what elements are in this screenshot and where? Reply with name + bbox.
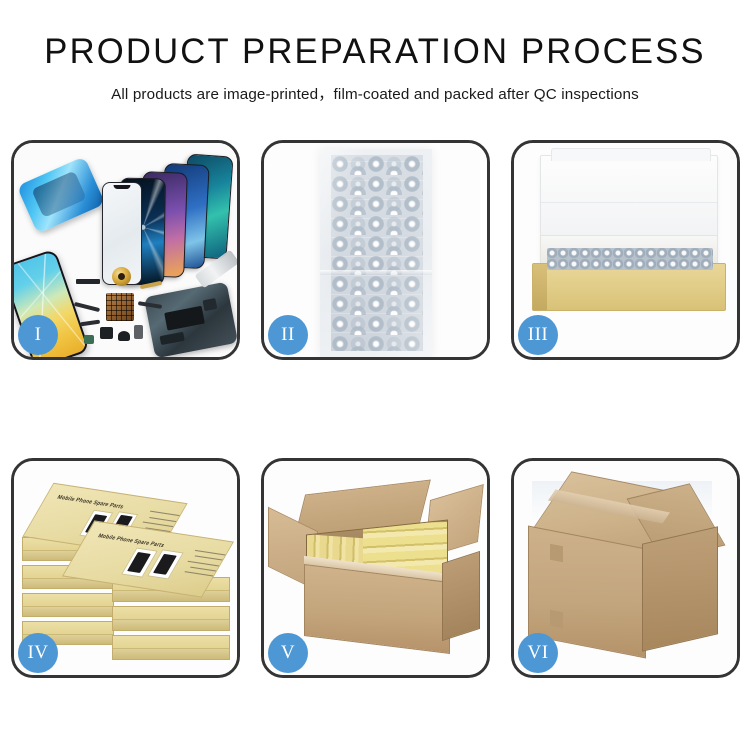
screw-grid-icon: [106, 293, 134, 321]
step-badge-1: I: [18, 315, 58, 355]
sealed-carton-side: [642, 526, 718, 652]
process-step-6: VI: [511, 458, 740, 678]
page-subtitle: All products are image-printed，film-coat…: [0, 82, 750, 104]
spare-parts-cluster: [70, 265, 186, 357]
earpiece-strip-icon: [76, 279, 100, 284]
flex-cable-3: [138, 301, 162, 309]
flex-cable-4: [80, 320, 100, 327]
process-step-5: V: [261, 458, 490, 678]
tape-tab-upper: [550, 544, 563, 563]
step-badge-3: III: [518, 315, 558, 355]
header: PRODUCT PREPARATION PROCESS All products…: [0, 0, 750, 104]
product-preparation-infographic: PRODUCT PREPARATION PROCESS All products…: [0, 0, 750, 750]
small-part-4: [84, 335, 94, 344]
flex-cable-2: [140, 281, 162, 289]
kraft-box-edge-6: [112, 606, 230, 631]
process-step-2: II: [261, 140, 490, 360]
box-label-text-2: Mobile Phone Spare Parts: [97, 533, 166, 549]
mailer-base: [532, 263, 726, 311]
kraft-box-edge-3: [22, 593, 114, 617]
step-badge-2: II: [268, 315, 308, 355]
flex-cable-1: [74, 302, 100, 312]
box-label-text: Mobile Phone Spare Parts: [56, 495, 125, 511]
carton-side-face: [442, 551, 480, 641]
small-part-3: [134, 325, 143, 339]
process-step-grid: I II III: [11, 140, 739, 678]
step-badge-6: VI: [518, 633, 558, 673]
page-title: PRODUCT PREPARATION PROCESS: [4, 34, 747, 71]
process-step-1: I: [11, 140, 240, 360]
step-badge-5: V: [268, 633, 308, 673]
small-part-1: [100, 327, 113, 339]
plastic-gloss: [320, 149, 432, 357]
tape-tab-lower: [550, 610, 563, 629]
process-step-4: Mobile Phone Spare Parts Mobile Phone Sp…: [11, 458, 240, 678]
process-step-3: III: [511, 140, 740, 360]
step-badge-4: IV: [18, 633, 58, 673]
speaker-coil-icon: [112, 267, 131, 286]
small-part-2: [118, 331, 130, 341]
kraft-box-edge-7: [112, 635, 230, 660]
phone-screen-fan: [102, 155, 237, 275]
bubble-wrap-sheet: [320, 149, 432, 357]
bubble-wrapped-contents: [547, 248, 713, 270]
